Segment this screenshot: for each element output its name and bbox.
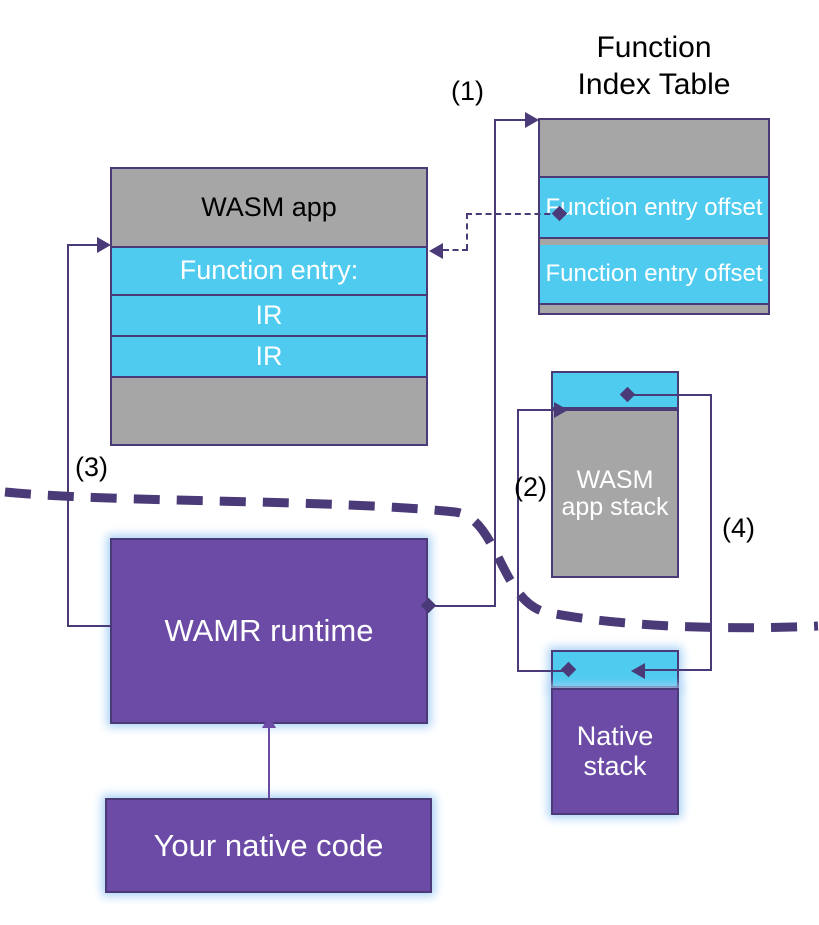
connector-1-arrowhead (525, 112, 539, 128)
step-2-label: (2) (514, 472, 547, 503)
connector-3-arrowhead (97, 237, 111, 253)
connector-2-seg-v (517, 409, 519, 672)
fit-row-2: Function entry offset (540, 245, 768, 305)
wasm-app-function-entry-label: Function entry: (180, 256, 359, 285)
connector-4-arrowhead (631, 663, 645, 679)
connector-1-seg-v (494, 119, 496, 607)
wasm-app-stack-header (551, 371, 679, 409)
wamr-runtime-box: WAMR runtime (110, 538, 428, 724)
diagram-canvas: Function Index Table Function entry offs… (0, 0, 819, 925)
wasm-app-title-label: WASM app (201, 193, 337, 222)
your-native-code-label: Your native code (154, 829, 384, 862)
connector-3-seg-h-bottom (67, 625, 112, 627)
native-stack-body: Native stack (551, 688, 679, 815)
connector-1-seg-h-bottom (428, 605, 496, 607)
wasm-app-stack-label: WASM app stack (561, 467, 668, 521)
connector-2-seg-h-top (517, 409, 559, 411)
connector-3-seg-v (67, 244, 69, 627)
wasm-app-stack-body: WASM app stack (551, 409, 679, 578)
wasm-app-row-title: WASM app (112, 169, 426, 246)
fit-row-2-label: Function entry offset (545, 261, 762, 287)
function-index-table: Function entry offset Function entry off… (538, 118, 770, 315)
connector-2-arrowhead (554, 402, 568, 418)
function-index-table-title: Function Index Table (538, 30, 770, 103)
wasm-app-row-ir-2: IR (112, 337, 426, 378)
connector-4-seg-h-bottom (645, 669, 712, 671)
return-dash-h-top (466, 213, 560, 215)
native-code-to-runtime-arrowhead (262, 716, 276, 728)
wasm-app-ir-1-label: IR (256, 301, 283, 330)
fit-row-0 (540, 120, 768, 176)
fit-row-1: Function entry offset (540, 176, 768, 239)
native-stack-label: Native stack (577, 722, 654, 780)
wasm-app-row-tail (112, 378, 426, 444)
return-dash-arrowhead (429, 243, 443, 259)
wasm-app-row-function-entry: Function entry: (112, 246, 426, 296)
wasm-app-ir-2-label: IR (256, 342, 283, 371)
native-code-to-runtime-line (268, 726, 270, 798)
connector-4-seg-h-top (628, 394, 712, 396)
wamr-runtime-label: WAMR runtime (165, 614, 374, 647)
your-native-code-box: Your native code (105, 798, 432, 893)
step-1-label: (1) (451, 76, 484, 107)
return-dash-h-bottom (443, 249, 468, 251)
wasm-app-box: WASM app Function entry: IR IR (110, 167, 428, 446)
connector-4-seg-v (710, 394, 712, 671)
step-3-label: (3) (75, 452, 108, 483)
fit-row-1-label: Function entry offset (545, 195, 762, 221)
step-4-label: (4) (722, 513, 755, 544)
wasm-app-row-ir-1: IR (112, 296, 426, 337)
connector-2-seg-h-bottom (517, 670, 567, 672)
return-dash-v (466, 213, 468, 250)
fit-row-3 (540, 305, 768, 313)
